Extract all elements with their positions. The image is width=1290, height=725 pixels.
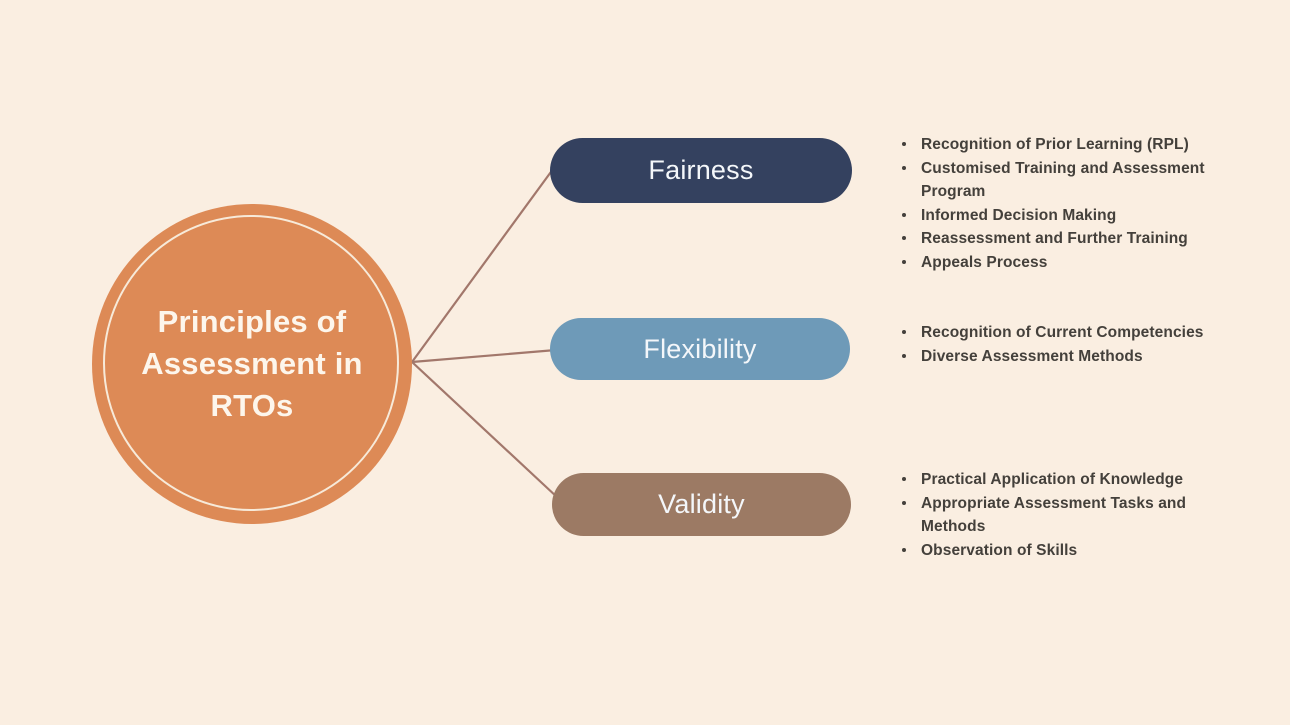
branch-node-fairness-label: Fairness bbox=[648, 155, 753, 186]
bullet-list-flexibility: Recognition of Current Competencies Dive… bbox=[894, 321, 1239, 368]
list-item: Practical Application of Knowledge bbox=[894, 468, 1239, 492]
central-node: Principles of Assessment in RTOs bbox=[92, 204, 412, 524]
list-item: Diverse Assessment Methods bbox=[894, 345, 1239, 369]
bullet-list-fairness: Recognition of Prior Learning (RPL) Cust… bbox=[894, 133, 1239, 274]
central-node-title: Principles of Assessment in RTOs bbox=[127, 301, 377, 427]
branch-node-fairness[interactable]: Fairness bbox=[550, 138, 852, 203]
diagram-canvas: Principles of Assessment in RTOs Fairnes… bbox=[0, 0, 1290, 725]
branch-node-validity-label: Validity bbox=[658, 489, 745, 520]
list-item: Reassessment and Further Training bbox=[894, 227, 1239, 251]
connector-line-flexibility bbox=[412, 350, 556, 362]
branch-node-validity[interactable]: Validity bbox=[552, 473, 851, 536]
branch-node-flexibility-label: Flexibility bbox=[643, 334, 756, 365]
list-item: Customised Training and Assessment Progr… bbox=[894, 157, 1239, 204]
list-item: Recognition of Prior Learning (RPL) bbox=[894, 133, 1239, 157]
list-item: Observation of Skills bbox=[894, 539, 1239, 563]
list-item: Recognition of Current Competencies bbox=[894, 321, 1239, 345]
bullet-list-validity: Practical Application of Knowledge Appro… bbox=[894, 468, 1239, 562]
list-item: Appeals Process bbox=[894, 251, 1239, 275]
list-item: Informed Decision Making bbox=[894, 204, 1239, 228]
branch-node-flexibility[interactable]: Flexibility bbox=[550, 318, 850, 380]
connector-line-fairness bbox=[412, 165, 556, 362]
list-item: Appropriate Assessment Tasks and Methods bbox=[894, 492, 1239, 539]
connector-line-validity bbox=[412, 362, 558, 498]
